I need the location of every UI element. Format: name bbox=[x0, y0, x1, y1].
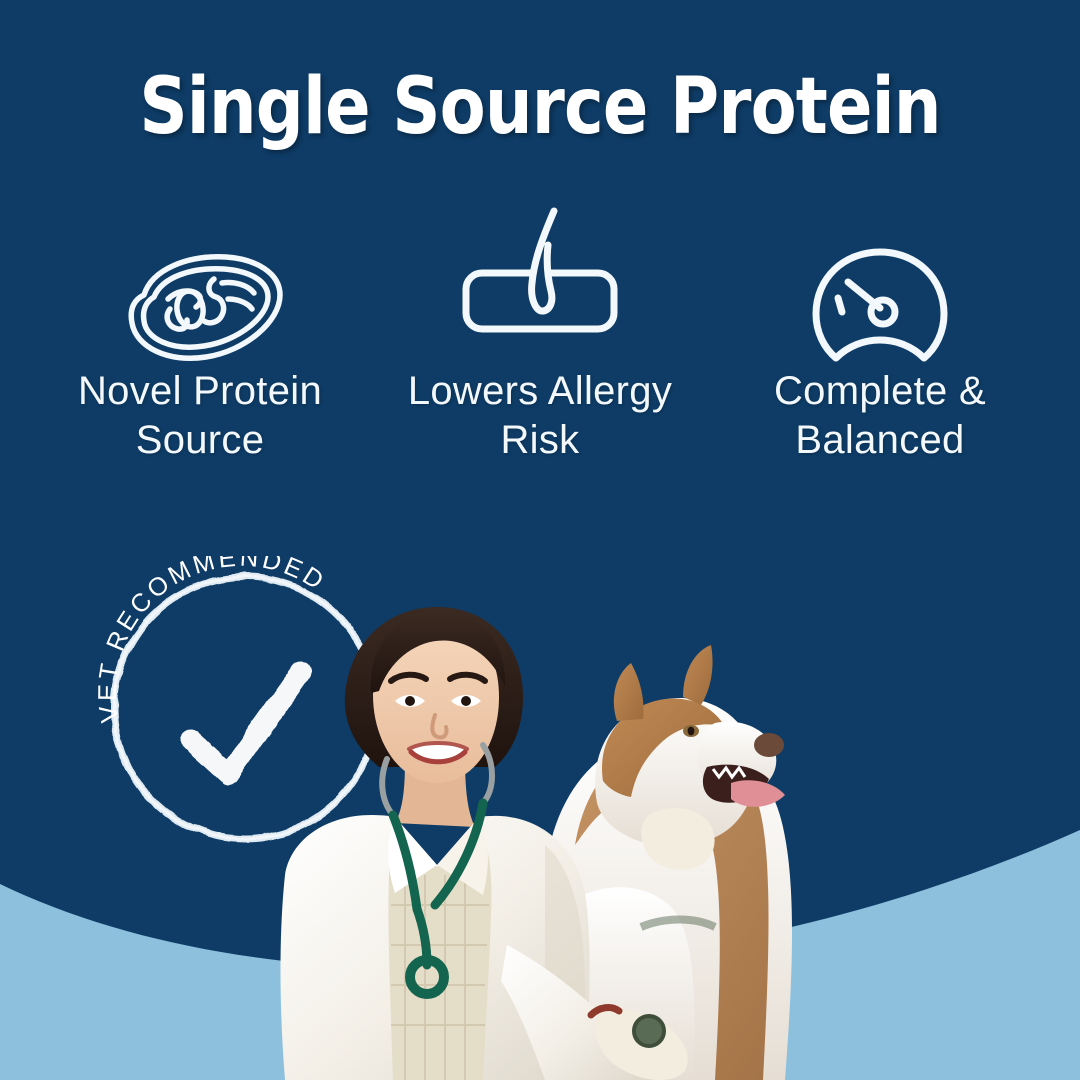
gauge-icon bbox=[800, 247, 960, 367]
feature-label-line-2: Source bbox=[78, 416, 322, 465]
feature-label-lowers-allergy-risk: Lowers Allergy Risk bbox=[408, 367, 672, 465]
feature-label-line-2: Risk bbox=[408, 416, 672, 465]
feature-lowers-allergy-risk: Lowers Allergy Risk bbox=[380, 195, 700, 465]
feature-label-line-1: Lowers Allergy bbox=[408, 367, 672, 416]
feature-row: Novel Protein Source Lowers Allergy Risk bbox=[40, 195, 1040, 525]
feature-label-line-2: Balanced bbox=[774, 416, 986, 465]
feature-label-complete-and-balanced: Complete & Balanced bbox=[774, 367, 986, 465]
steak-icon bbox=[110, 247, 290, 367]
feature-label-novel-protein-source: Novel Protein Source bbox=[78, 367, 322, 465]
vet-and-dog-photo bbox=[245, 545, 835, 1080]
feature-label-line-1: Novel Protein bbox=[78, 367, 322, 416]
feature-label-line-1: Complete & bbox=[774, 367, 986, 416]
hair-follicle-icon bbox=[450, 195, 630, 367]
page-title: Single Source Protein bbox=[76, 68, 1005, 146]
promo-graphic-canvas: Single Source Protein bbox=[0, 0, 1080, 1080]
feature-novel-protein-source: Novel Protein Source bbox=[40, 195, 360, 465]
feature-complete-and-balanced: Complete & Balanced bbox=[720, 195, 1040, 465]
